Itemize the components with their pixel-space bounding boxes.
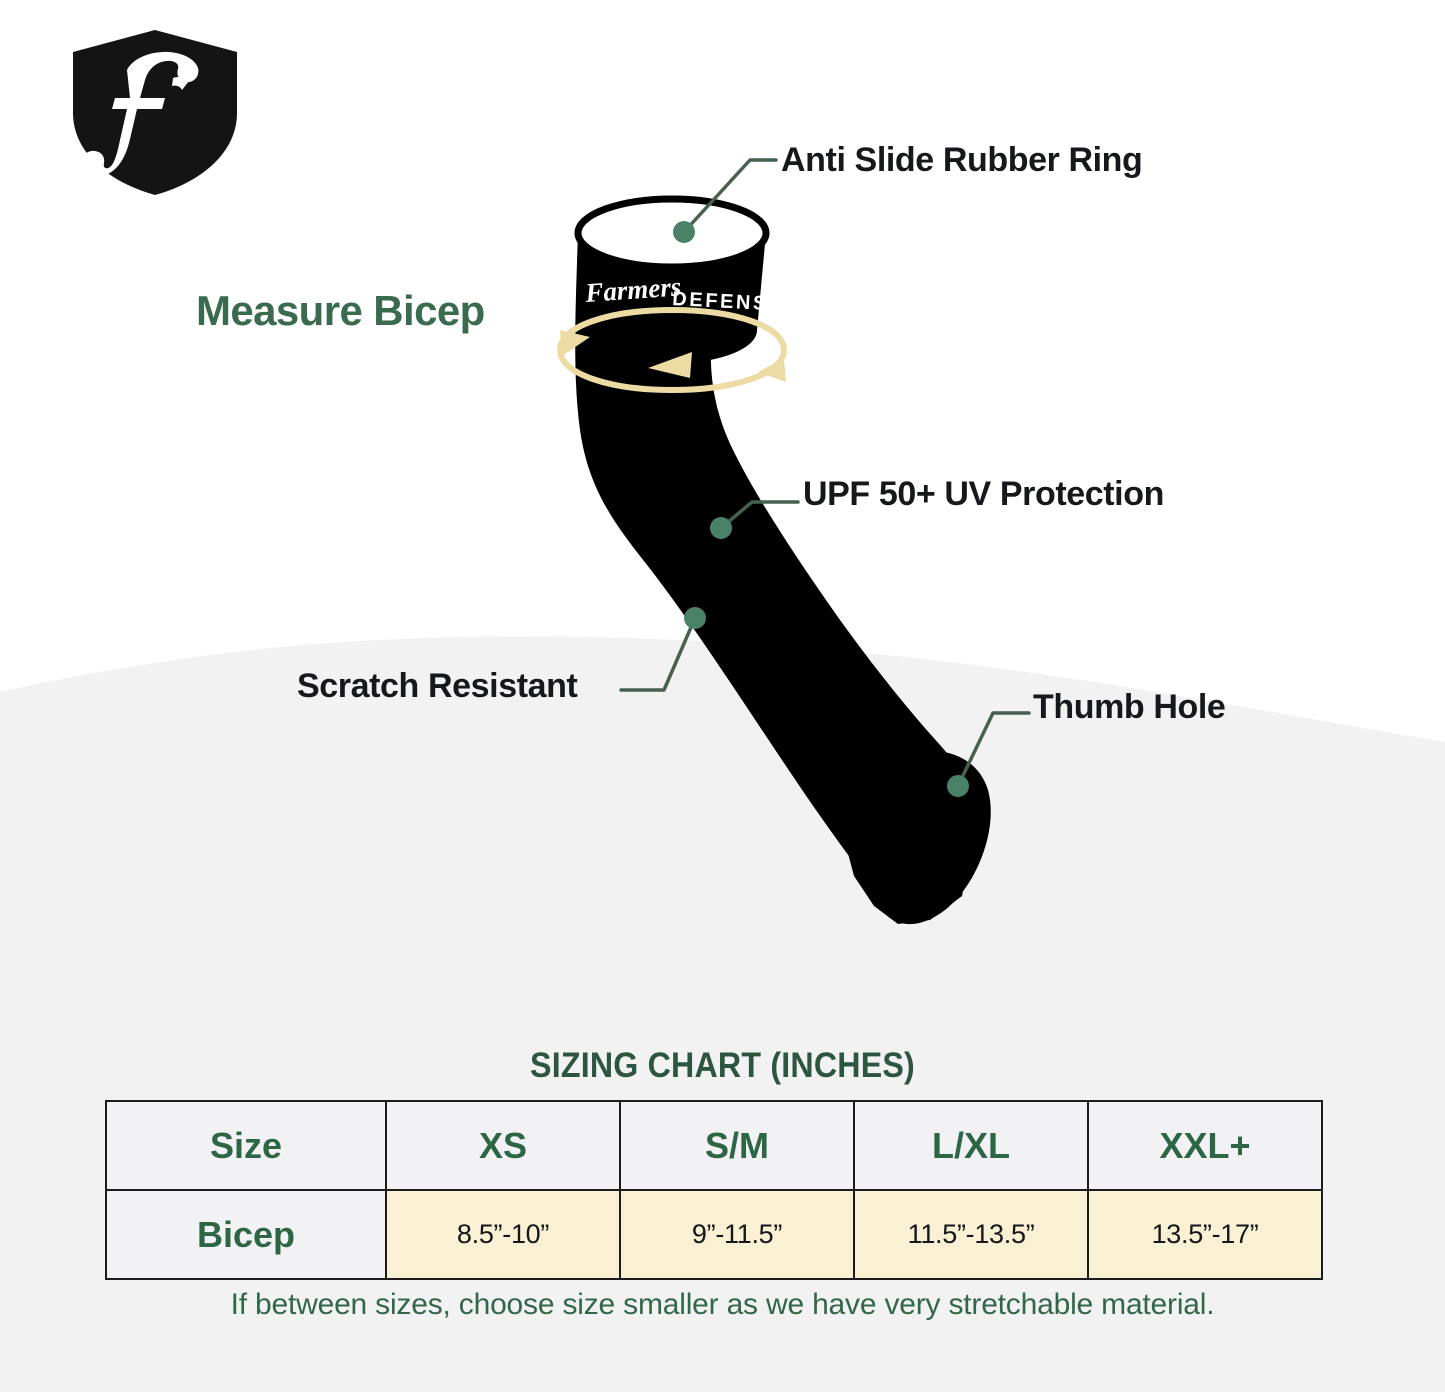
table-header-xs: XS	[386, 1101, 620, 1190]
sizing-chart-table: Size XS S/M L/XL XXL+ Bicep 8.5”-10” 9”-…	[105, 1100, 1323, 1280]
table-cell-size-label: Size	[106, 1101, 386, 1190]
callout-label-scratch-resistant: Scratch Resistant	[297, 669, 577, 703]
measure-bicep-label: Measure Bicep	[196, 290, 485, 332]
sizing-note: If between sizes, choose size smaller as…	[0, 1288, 1445, 1322]
table-row-header: Size XS S/M L/XL XXL+	[106, 1101, 1322, 1190]
table-row-bicep: Bicep 8.5”-10” 9”-11.5” 11.5”-13.5” 13.5…	[106, 1190, 1322, 1279]
sizing-chart-title: SIZING CHART (INCHES)	[58, 1046, 1387, 1086]
callout-label-anti-slide-rubber-ring: Anti Slide Rubber Ring	[781, 143, 1142, 177]
infographic-canvas: Farmers DEFENSE Anti Slide Rubber Ring U…	[0, 0, 1445, 1392]
table-cell-bicep-xxl: 13.5”-17”	[1088, 1190, 1322, 1279]
table-header-xxl: XXL+	[1088, 1101, 1322, 1190]
callout-label-upf-protection: UPF 50+ UV Protection	[803, 477, 1164, 511]
dot-anti-slide	[673, 221, 695, 243]
table-cell-bicep-xs: 8.5”-10”	[386, 1190, 620, 1279]
table-header-lxl: L/XL	[854, 1101, 1088, 1190]
table-header-sm: S/M	[620, 1101, 854, 1190]
table-cell-bicep-label: Bicep	[106, 1190, 386, 1279]
table-cell-bicep-sm: 9”-11.5”	[620, 1190, 854, 1279]
dot-upf	[710, 517, 732, 539]
callout-label-thumb-hole: Thumb Hole	[1033, 690, 1225, 724]
dot-scratch	[684, 607, 706, 629]
dot-thumb	[947, 775, 969, 797]
table-cell-bicep-lxl: 11.5”-13.5”	[854, 1190, 1088, 1279]
leader-scratch	[621, 618, 695, 690]
